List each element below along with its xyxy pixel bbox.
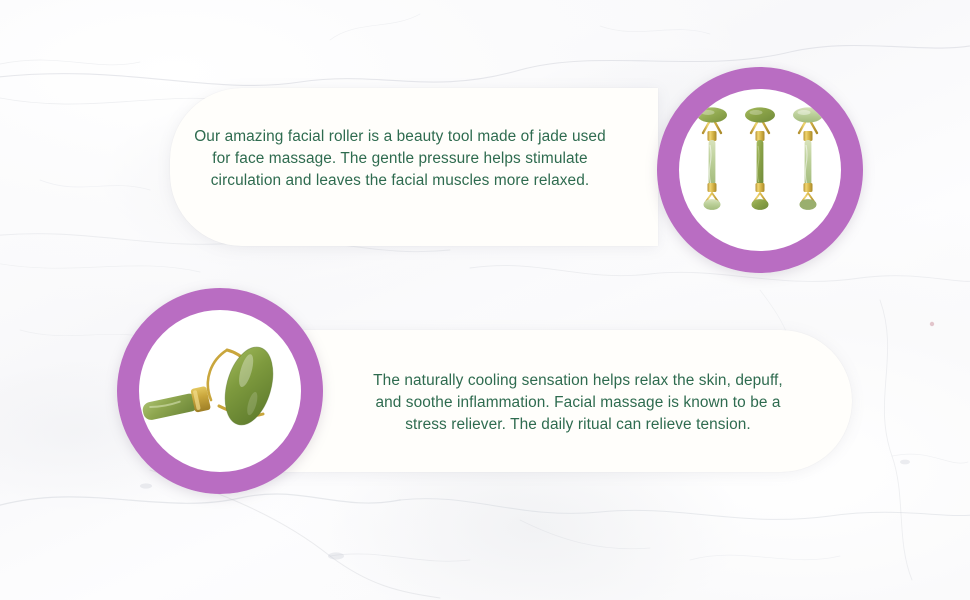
panel-top-paragraph: Our amazing facial roller is a beauty to…: [190, 126, 610, 193]
panel-bottom-paragraph: The naturally cooling sensation helps re…: [370, 370, 786, 437]
image-single-jade-roller: [117, 288, 323, 494]
single-roller-photo: [139, 310, 301, 472]
image-three-jade-rollers: [657, 67, 863, 273]
three-rollers-photo: [679, 89, 841, 251]
infographic-canvas: Our amazing facial roller is a beauty to…: [0, 0, 970, 600]
